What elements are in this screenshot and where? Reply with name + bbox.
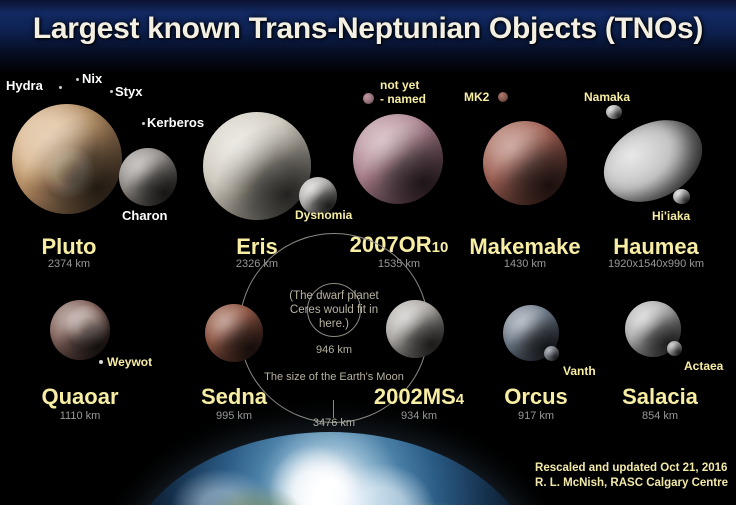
planet-diameter-makemake: 1430 km [463, 258, 587, 270]
planet-name-2002ms4-main: 2002MS [374, 384, 456, 409]
moon-2007or10-unnamed [363, 93, 374, 104]
moon-label-dysnomia: Dysnomia [295, 208, 352, 222]
planet-sedna [205, 304, 263, 362]
moon-nix [76, 78, 79, 81]
moon-label-charon: Charon [122, 208, 168, 223]
moon-hiiaka [673, 189, 690, 204]
moon-actaea [667, 341, 682, 356]
moon-scale-tick [333, 400, 334, 418]
ceres-diameter: 946 km [284, 344, 384, 357]
planet-2007or10 [353, 114, 443, 204]
moon-styx [110, 90, 113, 93]
moon-label-vanth: Vanth [563, 364, 596, 378]
moon-label-hiiaka: Hi'iaka [652, 209, 690, 223]
moon-label-line1: not yet - named [380, 78, 426, 106]
moon-label-nix: Nix [82, 71, 102, 86]
planet-pluto [12, 104, 122, 214]
moon-scale-note: The size of the Earth's Moon [264, 371, 404, 384]
ceres-note: (The dwarf planet Ceres would fit in her… [279, 289, 389, 331]
planet-quaoar [50, 300, 110, 360]
planet-name-2007or10-sub: 10 [432, 239, 449, 256]
planet-name-2002ms4: 2002MS4 [362, 384, 476, 410]
moon-label-hydra: Hydra [6, 78, 43, 93]
moon-vanth [544, 346, 559, 361]
moon-mk2 [498, 92, 508, 102]
moon-namaka [606, 105, 622, 119]
moon-charon [119, 148, 177, 206]
planet-diameter-2002ms4: 934 km [362, 410, 476, 422]
planet-makemake [483, 121, 567, 205]
planet-2002ms4 [386, 300, 444, 358]
planet-name-sedna: Sedna [178, 384, 290, 410]
planet-name-orcus: Orcus [490, 384, 582, 410]
page-title: Largest known Trans-Neptunian Objects (T… [0, 12, 736, 46]
moon-hydra [59, 86, 62, 89]
moon-label-weywot: Weywot [107, 355, 152, 369]
planet-name-salacia: Salacia [608, 384, 712, 410]
planet-name-makemake: Makemake [463, 234, 587, 260]
planet-eris [203, 112, 311, 220]
moon-label-styx: Styx [115, 84, 142, 99]
credit-line-2: R. L. McNish, RASC Calgary Centre [535, 476, 728, 491]
moon-label-actaea: Actaea [684, 359, 723, 373]
credit-line-1: Rescaled and updated Oct 21, 2016 [535, 461, 728, 476]
moon-weywot [99, 360, 103, 364]
planet-diameter-sedna: 995 km [178, 410, 290, 422]
earth-limb [120, 432, 540, 505]
moon-kerberos [142, 122, 145, 125]
moon-label-kerberos: Kerberos [147, 115, 204, 130]
planet-name-quaoar: Quaoar [20, 384, 140, 410]
credit-block: Rescaled and updated Oct 21, 2016 R. L. … [535, 461, 728, 491]
planet-diameter-salacia: 854 km [608, 410, 712, 422]
planet-haumea [590, 104, 717, 218]
planet-name-haumea: Haumea [600, 234, 712, 260]
moon-label-namaka: Namaka [584, 90, 630, 104]
planet-diameter-orcus: 917 km [490, 410, 582, 422]
planet-name-2002ms4-sub: 4 [456, 391, 464, 408]
planet-diameter-pluto: 2374 km [14, 258, 124, 270]
infographic-canvas: Largest known Trans-Neptunian Objects (T… [0, 0, 736, 505]
moon-label-mk2: MK2 [464, 90, 489, 104]
planet-diameter-haumea: 1920x1540x990 km [594, 258, 718, 270]
planet-diameter-quaoar: 1110 km [20, 410, 140, 422]
planet-name-pluto: Pluto [14, 234, 124, 260]
moon-label-2007or10-unnamed: not yet - named [380, 78, 426, 106]
